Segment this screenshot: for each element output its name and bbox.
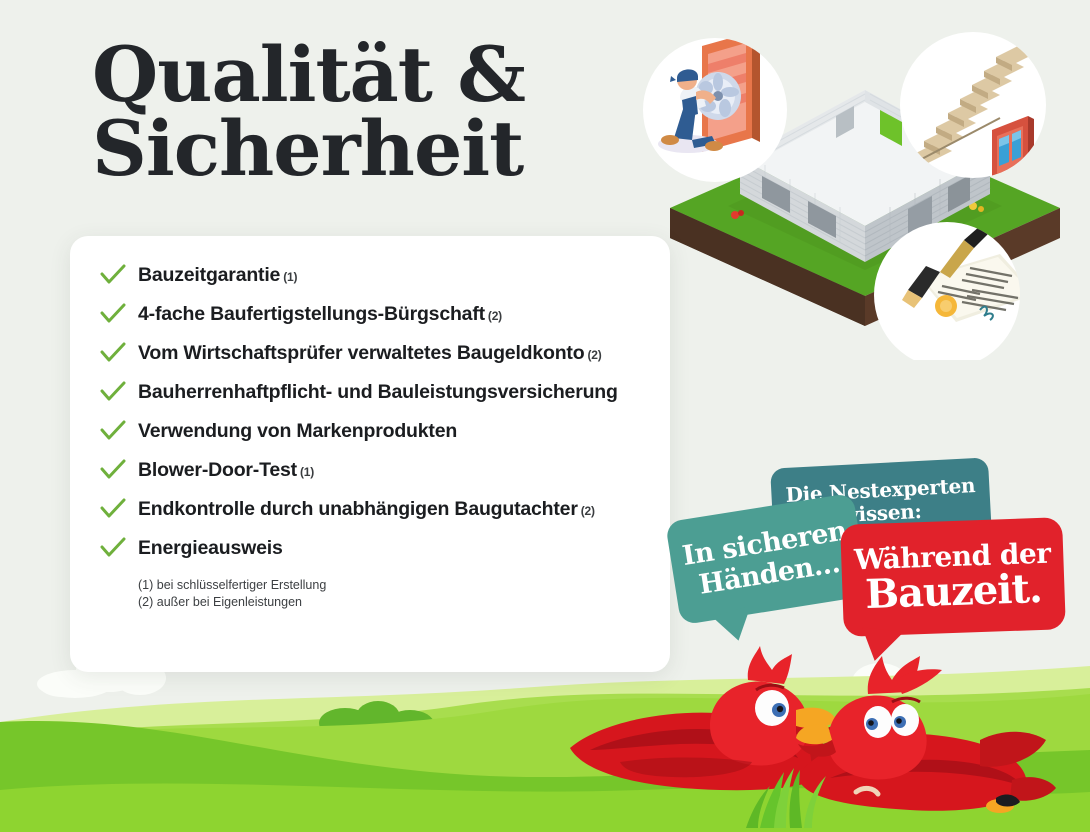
list-item-text: Blower-Door-Test [138, 459, 297, 481]
speech-bubble-sichere-haende: In sicheren Händen... [665, 493, 869, 625]
footnote-1: (1) bei schlüsselfertiger Erstellung [138, 577, 656, 594]
footnote-2: (2) außer bei Eigenleistungen [138, 594, 656, 611]
check-icon [100, 262, 138, 288]
bird-right-eye-left [864, 706, 892, 738]
footnotes: (1) bei schlüsselfertiger Erstellung (2)… [138, 577, 656, 611]
check-icon [100, 457, 138, 483]
checklist: Bauzeitgarantie(1) 4-fache Baufertigstel… [100, 262, 656, 611]
page-title: Qualität & Sicherheit [92, 38, 652, 187]
footnote-marker: (2) [581, 504, 595, 518]
list-item: Bauzeitgarantie(1) [100, 262, 656, 290]
list-item-text: Energieausweis [138, 537, 283, 559]
list-item-label: Blower-Door-Test(1) [138, 457, 314, 485]
list-item-label: Bauzeitgarantie(1) [138, 262, 297, 290]
bird-right-tail [1010, 777, 1056, 801]
list-item-label: Verwendung von Markenprodukten [138, 418, 460, 446]
check-icon [100, 496, 138, 522]
list-item: Verwendung von Markenprodukten [100, 418, 656, 446]
list-item-label: Vom Wirtschaftsprüfer verwaltetes Baugel… [138, 340, 602, 368]
list-item-text: Verwendung von Markenprodukten [138, 420, 457, 442]
list-item-text: Vom Wirtschaftsprüfer verwaltetes Baugel… [138, 342, 584, 364]
list-item: 4-fache Baufertigstellungs-Bürgschaft(2) [100, 301, 656, 329]
footnote-marker: (1) [283, 270, 297, 284]
check-icon [100, 340, 138, 366]
blower-door-worker-callout [643, 32, 787, 182]
list-item-label: Bauherrenhaftpflicht- und Bauleistungsve… [138, 379, 621, 407]
footnote-marker: (2) [488, 309, 502, 323]
check-icon [100, 535, 138, 561]
footnote-marker: (2) [587, 348, 601, 362]
house-illustration [640, 10, 1090, 360]
bird-right [796, 656, 1056, 813]
list-item: Endkontrolle durch unabhängigen Baugutac… [100, 496, 656, 524]
list-item: Vom Wirtschaftsprüfer verwaltetes Baugel… [100, 340, 656, 368]
infographic-canvas: Qualität & Sicherheit [0, 0, 1090, 832]
list-item-label: Endkontrolle durch unabhängigen Baugutac… [138, 496, 595, 524]
list-item-text: Bauherrenhaftpflicht- und Bauleistungsve… [138, 381, 618, 403]
list-item-text: Bauzeitgarantie [138, 264, 280, 286]
check-icon [100, 379, 138, 405]
speech-bubble-bauzeit-line2: Bauzeit. [865, 568, 1043, 615]
list-item-label: Energieausweis [138, 535, 286, 563]
gold-seal [935, 295, 957, 317]
list-item: Blower-Door-Test(1) [100, 457, 656, 485]
checklist-card: Bauzeitgarantie(1) 4-fache Baufertigstel… [70, 236, 670, 672]
speech-bubble-sichere-haende-text: In sicheren Händen... [674, 514, 859, 603]
check-icon [100, 418, 138, 444]
list-item-label: 4-fache Baufertigstellungs-Bürgschaft(2) [138, 301, 502, 329]
bird-right-wing [980, 732, 1046, 767]
check-icon [100, 301, 138, 327]
birds-illustration [560, 630, 1090, 830]
list-item: Energieausweis [100, 535, 656, 563]
list-item: Bauherrenhaftpflicht- und Bauleistungsve… [100, 379, 656, 407]
list-item-text: 4-fache Baufertigstellungs-Bürgschaft [138, 303, 485, 325]
speech-bubble-tail [859, 627, 904, 663]
list-item-text: Endkontrolle durch unabhängigen Baugutac… [138, 498, 578, 520]
footnote-marker: (1) [300, 465, 314, 479]
speech-bubble-bauzeit: Während der Bauzeit. [840, 517, 1066, 637]
